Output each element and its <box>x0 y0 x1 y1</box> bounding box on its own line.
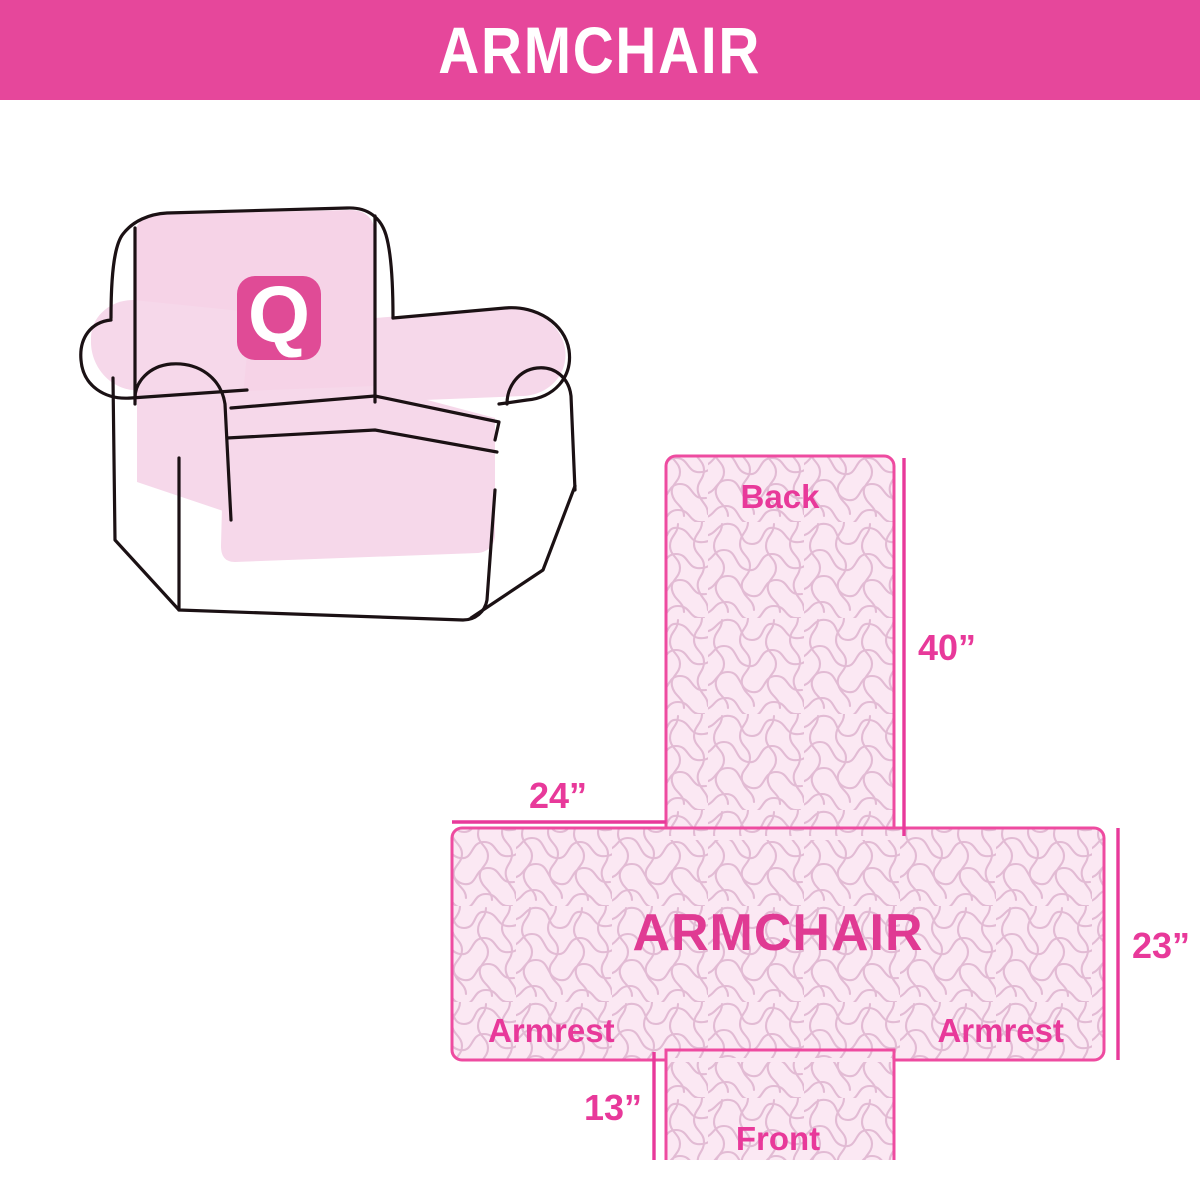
pattern-svg: Back ARMCHAIR Armrest Armrest Front 40” … <box>420 330 1200 1160</box>
label-armrest-left: Armrest <box>488 1012 615 1049</box>
chair-arm-left-fill <box>91 300 251 395</box>
dimension-armrest-width: 24” <box>529 775 587 816</box>
brand-logo-letter: Q <box>248 270 310 359</box>
label-back: Back <box>741 478 821 515</box>
label-front: Front <box>736 1120 820 1157</box>
dimension-front-height: 13” <box>584 1087 642 1128</box>
header-banner: ARMCHAIR <box>0 0 1200 100</box>
dimension-body-height: 23” <box>1132 925 1190 966</box>
page-title: ARMCHAIR <box>439 17 762 83</box>
dimension-back-height: 40” <box>918 627 976 668</box>
label-armrest-right: Armrest <box>937 1012 1064 1049</box>
slipcover-pattern-diagram: Back ARMCHAIR Armrest Armrest Front 40” … <box>420 330 1200 1160</box>
main-canvas: Q <box>0 100 1200 1200</box>
brand-logo-badge: Q <box>237 270 321 360</box>
label-armchair: ARMCHAIR <box>632 904 923 962</box>
